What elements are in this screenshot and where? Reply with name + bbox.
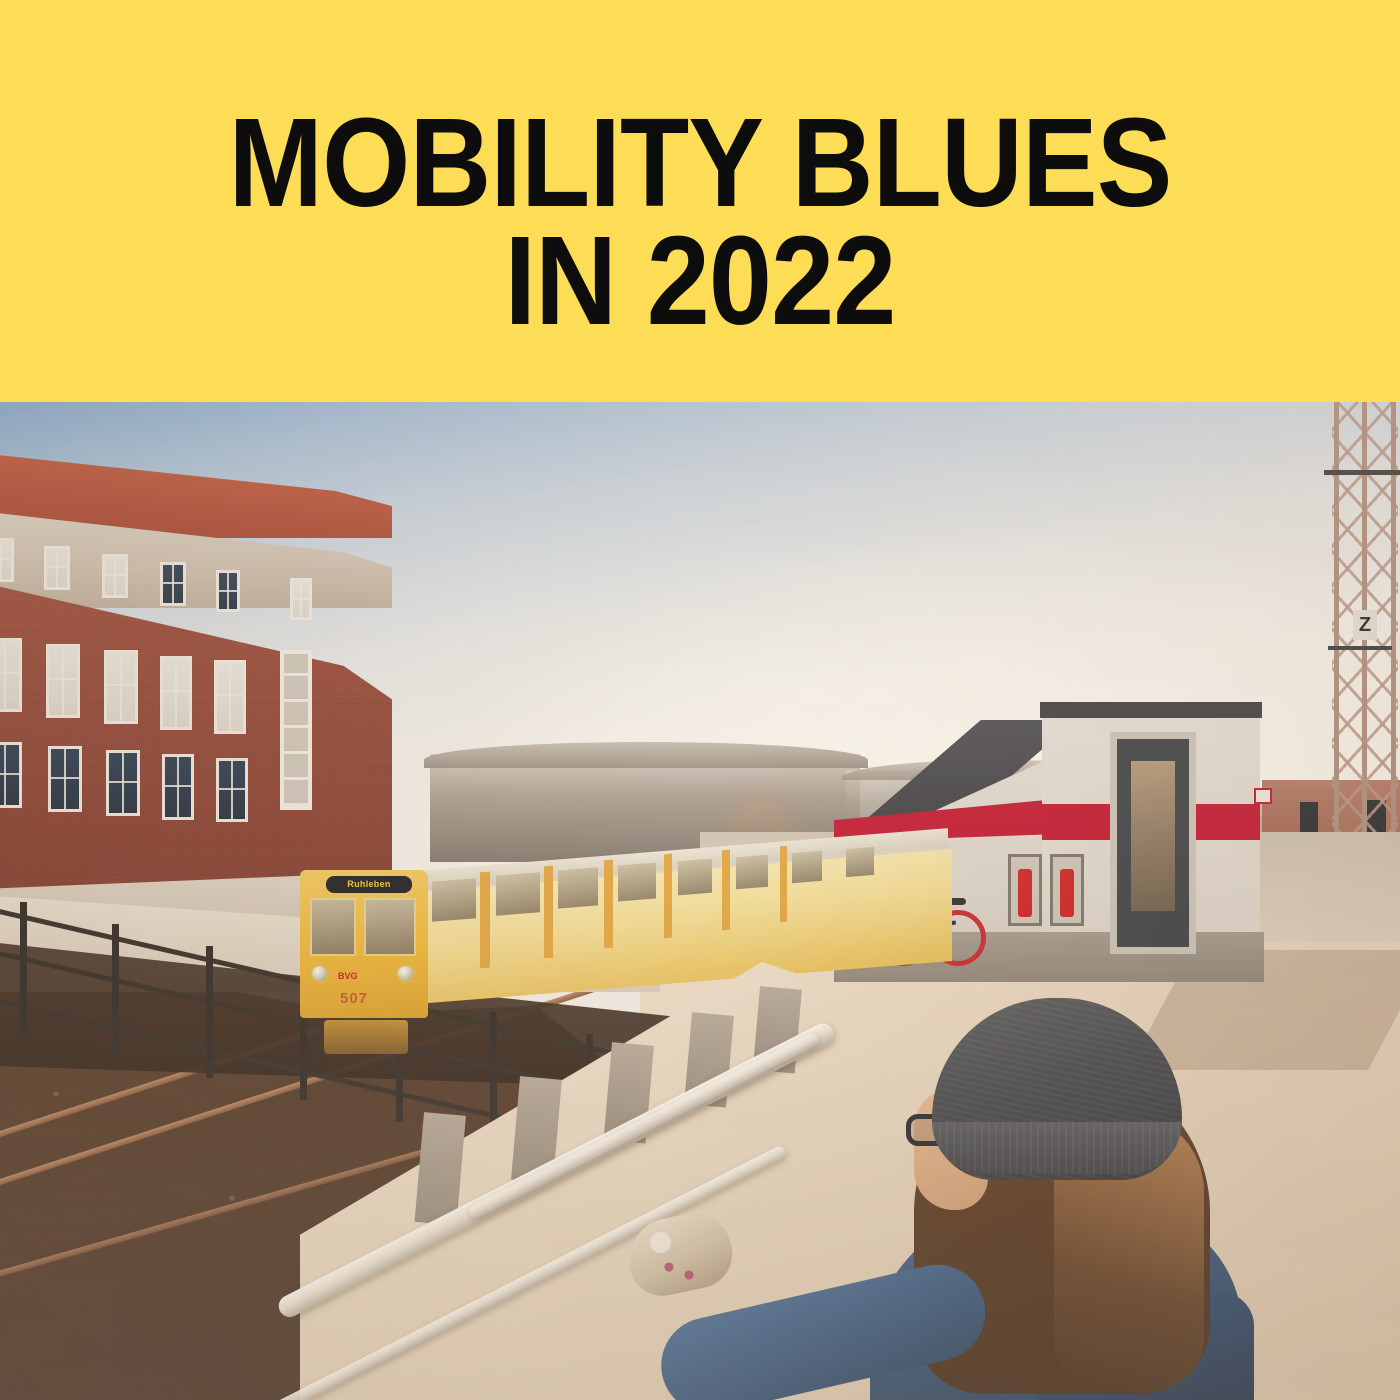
window [48,746,82,812]
window [214,660,246,734]
tower-crossarm-2 [1328,646,1392,650]
train-door [780,846,787,923]
operator-logo: BVG [338,966,396,980]
train-window [432,878,476,922]
train-window [496,872,540,916]
train-skirt [324,1020,408,1054]
fire-exit-sign-icon [1254,788,1272,804]
window [104,650,138,724]
fence-post [112,924,119,1056]
poster-root: MOBILITY BLUES IN 2022 Z [0,0,1400,1400]
kiosk-door-glass [1131,761,1175,911]
stairwell-window [280,650,312,810]
tower-z-sign: Z [1353,610,1377,640]
window [0,742,22,808]
train-headlight [396,964,415,983]
mitten-detail [684,1270,695,1281]
train-window [736,855,768,890]
train-car-number: 507 [340,990,368,1007]
kiosk-door[interactable] [1110,732,1196,954]
window [290,578,312,620]
hero-photo: Z [0,402,1400,1400]
train-window [558,867,598,908]
fire-extinguisher-icon [1018,869,1032,917]
train-window [792,851,822,883]
fence-post [20,902,27,1034]
window [0,638,22,712]
window [102,554,128,598]
train-windscreen [310,898,356,956]
person-foreground [840,972,1270,1400]
tower-crossarm [1324,470,1400,475]
window [44,546,70,590]
train-door [604,860,613,949]
window [160,562,186,606]
kiosk-roof [1040,702,1262,718]
train-destination-sign: Ruhleben [326,876,412,893]
page-title-line-2: IN 2022 [70,222,1330,340]
train-window [618,862,656,901]
window [46,644,80,718]
train-window [678,859,712,896]
train-door [722,850,730,931]
title-banner: MOBILITY BLUES IN 2022 [0,0,1400,402]
operator-logo-text: BVG [338,971,358,981]
beanie-cuff [932,1122,1182,1174]
train-windscreen [364,898,416,956]
page-title-line-1: MOBILITY BLUES [70,104,1330,222]
window [216,570,240,612]
fire-extinguisher-cabinet [1008,854,1042,926]
fire-extinguisher-icon [1060,869,1074,917]
train-door [480,872,490,969]
train-window [846,847,874,877]
title-block: MOBILITY BLUES IN 2022 [0,104,1400,341]
window [0,538,14,582]
train-door [544,866,553,959]
fire-extinguisher-cabinet [1050,854,1084,926]
window [216,758,248,822]
window [160,656,192,730]
mitten-detail [664,1262,675,1273]
fence-post [206,946,213,1078]
train-door [664,854,672,939]
train-headlight [310,964,329,983]
train-cab: Ruhleben BVG 507 [300,870,428,1018]
window [162,754,194,820]
window [106,750,140,816]
